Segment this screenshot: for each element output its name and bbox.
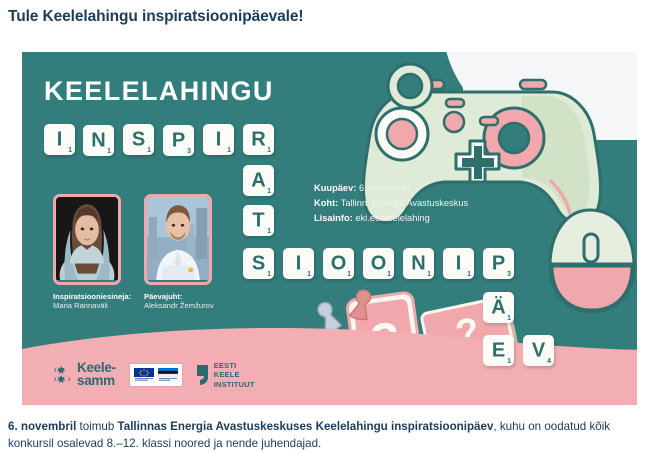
scrabble-tile-i-3: I1 bbox=[283, 248, 314, 279]
tile-points: 1 bbox=[427, 271, 431, 278]
caption-bold-event: Tallinnas Energia Avastuskeskuses Keelel… bbox=[118, 420, 494, 433]
event-info-block: Kuupäev: 6. november Koht: Tallinn, Ener… bbox=[314, 183, 468, 228]
speaker-name: Maria Rannaväli bbox=[53, 301, 153, 310]
event-place-label: Koht: bbox=[314, 198, 338, 208]
scrabble-tile-o-2: O1 bbox=[363, 248, 394, 279]
scrabble-tile-r: R1 bbox=[243, 124, 274, 155]
avatar-speaker bbox=[53, 194, 121, 285]
speaker-caption: Inspiratsiooniesineja: Maria Rannaväli bbox=[53, 292, 153, 311]
event-moreinfo-value: eki.ee/keelelahing bbox=[355, 213, 429, 223]
scrabble-tile-t: T1 bbox=[243, 205, 274, 236]
speaker-role: Inspiratsiooniesineja: bbox=[53, 292, 153, 301]
keelesamm-line-2: samm bbox=[77, 375, 116, 388]
event-poster: ? ? 2 7 9 4 bbox=[22, 52, 637, 405]
eki-comma-mark-icon bbox=[196, 364, 209, 386]
scrabble-tile-a: A1 bbox=[243, 165, 274, 196]
tile-points: 1 bbox=[107, 148, 111, 155]
tile-points: 1 bbox=[467, 271, 471, 278]
event-place-line: Koht: Tallinn, Energia Avastuskeskus bbox=[314, 198, 468, 208]
event-moreinfo-line: Lisainfo: eki.ee/keelelahing bbox=[314, 213, 468, 223]
scrabble-tile-i-4: I1 bbox=[443, 248, 474, 279]
keelesamm-mark-icon bbox=[52, 365, 72, 385]
tile-points: 1 bbox=[347, 271, 351, 278]
host-portrait-image bbox=[147, 197, 209, 280]
tile-points: 3 bbox=[507, 271, 511, 278]
scrabble-tile-a-umlaut: Ä1 bbox=[483, 292, 514, 323]
logo-strip: Keele- samm bbox=[52, 361, 255, 389]
poster-main-title: KEELELAHINGU bbox=[44, 76, 274, 107]
scrabble-tile-e: E1 bbox=[483, 335, 514, 366]
scrabble-tile-n-2: N1 bbox=[403, 248, 434, 279]
tile-points: 1 bbox=[267, 228, 271, 235]
caption-bold-date: 6. novembril bbox=[8, 420, 76, 433]
tile-points: 4 bbox=[547, 358, 551, 365]
tile-points: 1 bbox=[507, 358, 511, 365]
eki-line-2: KEELE bbox=[214, 370, 255, 379]
tile-points: 1 bbox=[267, 271, 271, 278]
scrabble-tile-s-1: S1 bbox=[123, 124, 154, 155]
eu-flag-icon bbox=[133, 367, 155, 382]
scrabble-tile-s-2: S1 bbox=[243, 248, 274, 279]
event-date-label: Kuupäev: bbox=[314, 183, 356, 193]
tile-points: 1 bbox=[387, 271, 391, 278]
caption-text-1: toimub bbox=[76, 420, 117, 433]
tile-points: 1 bbox=[267, 188, 271, 195]
tile-points: 1 bbox=[507, 315, 511, 322]
event-date-value: 6. november bbox=[359, 183, 411, 193]
host-name: Aleksandr Žemžurov bbox=[144, 301, 254, 310]
scrabble-tile-p-1: P3 bbox=[163, 125, 194, 156]
eki-wordmark: EESTI KEELE INSTITUUT bbox=[214, 361, 255, 389]
host-role: Päevajuht: bbox=[144, 292, 254, 301]
page-root: Tule Keelelahingu inspiratsioonipäevale! bbox=[0, 0, 650, 452]
article-caption: 6. novembril toimub Tallinnas Energia Av… bbox=[8, 418, 642, 452]
scrabble-tile-i-1: I1 bbox=[44, 124, 75, 155]
tile-points: 1 bbox=[68, 147, 72, 154]
event-moreinfo-label: Lisainfo: bbox=[314, 213, 353, 223]
keelesamm-wordmark: Keele- samm bbox=[77, 362, 116, 388]
event-date-line: Kuupäev: 6. november bbox=[314, 183, 468, 193]
scrabble-tile-n: N1 bbox=[83, 125, 114, 156]
estonia-flag-icon bbox=[157, 367, 179, 382]
scrabble-tile-o-1: O1 bbox=[323, 248, 354, 279]
scrabble-tile-v: V4 bbox=[523, 335, 554, 366]
tile-points: 1 bbox=[267, 147, 271, 154]
tile-points: 1 bbox=[227, 147, 231, 154]
tile-points: 3 bbox=[187, 148, 191, 155]
eki-line-1: EESTI bbox=[214, 361, 255, 370]
host-caption: Päevajuht: Aleksandr Žemžurov bbox=[144, 292, 254, 311]
page-title: Tule Keelelahingu inspiratsioonipäevale! bbox=[8, 8, 303, 26]
eu-estonia-flags-logo bbox=[130, 364, 182, 386]
computer-mouse-illustration bbox=[542, 204, 637, 319]
scrabble-tile-p-2: P3 bbox=[483, 248, 514, 279]
tile-points: 1 bbox=[307, 271, 311, 278]
eki-line-3: INSTITUUT bbox=[214, 380, 255, 389]
eki-logo: EESTI KEELE INSTITUUT bbox=[196, 361, 255, 389]
tile-points: 1 bbox=[147, 147, 151, 154]
scrabble-tile-i-2: I1 bbox=[203, 124, 234, 155]
keelesamm-logo: Keele- samm bbox=[52, 362, 116, 388]
avatar-host bbox=[144, 194, 212, 285]
speaker-portrait-image bbox=[56, 197, 118, 280]
event-place-value: Tallinn, Energia Avastuskeskus bbox=[341, 198, 468, 208]
